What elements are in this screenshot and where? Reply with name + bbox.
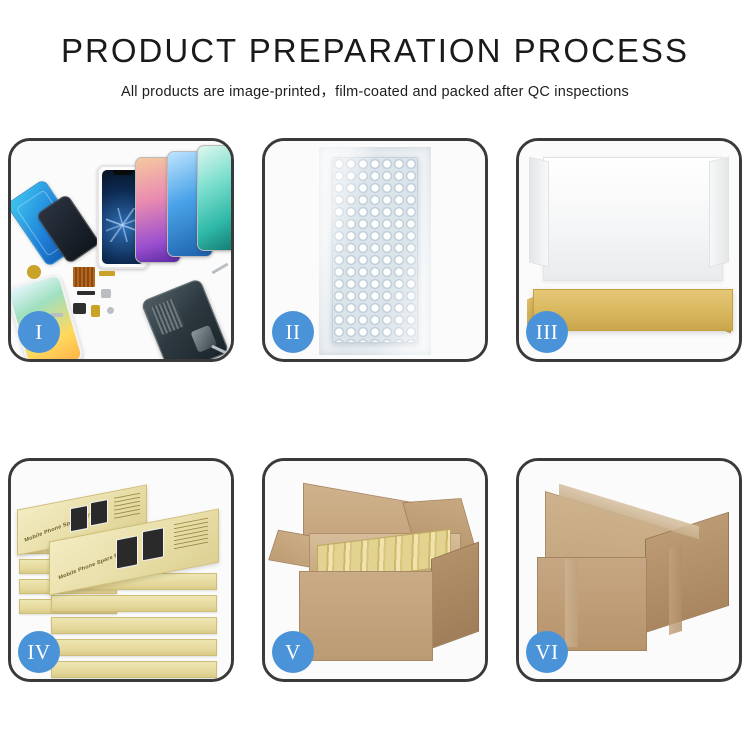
step-panel-6[interactable]: VI [516, 458, 742, 682]
box-screen-image [116, 535, 138, 569]
bubble-wrap-texture [332, 157, 418, 343]
carton-front-panel [299, 571, 433, 661]
box-screen-image [70, 505, 88, 532]
flex-cable-part [99, 271, 115, 276]
carton-side-panel [431, 542, 479, 649]
lid-flap-right [709, 157, 729, 268]
step-badge-1: I [18, 311, 60, 353]
coil-part [27, 265, 41, 279]
box-screen-image [142, 527, 164, 561]
phone-teal-icon [197, 145, 234, 251]
step-panel-2[interactable]: II [262, 138, 488, 362]
logic-board-part [73, 267, 95, 287]
box-screen-image [90, 499, 108, 526]
white-lid [543, 157, 723, 281]
step-panel-5[interactable]: V [262, 458, 488, 682]
packing-tape-front [565, 559, 578, 647]
screwdriver-part [211, 263, 228, 275]
page-header: PRODUCT PREPARATION PROCESS All products… [0, 0, 750, 101]
step-badge-2: II [272, 311, 314, 353]
ribbon-part [77, 291, 95, 295]
box-spec-lines [174, 518, 208, 551]
step-panel-3[interactable]: III [516, 138, 742, 362]
page-subtitle: All products are image-printed，film-coat… [0, 80, 750, 101]
battery-part [91, 305, 100, 317]
phone-screens-group [11, 141, 231, 276]
stack-box-edge [51, 661, 217, 678]
step-badge-6: VI [526, 631, 568, 673]
step-badge-4: IV [18, 631, 60, 673]
screw-part [107, 307, 114, 314]
stack-box-edge [51, 595, 217, 612]
process-steps-grid: I II III [8, 138, 742, 682]
step-badge-5: V [272, 631, 314, 673]
page-title: PRODUCT PREPARATION PROCESS [0, 34, 750, 69]
box-spec-lines [114, 493, 140, 520]
speaker-part [73, 303, 86, 314]
lid-flap-left [529, 157, 549, 268]
step-panel-1[interactable]: I [8, 138, 234, 362]
stack-box-edge [51, 639, 217, 656]
stack-box-edge [51, 617, 217, 634]
packing-tape-side [669, 545, 682, 635]
camera-part [101, 289, 111, 298]
step-panel-4[interactable]: Mobile Phone Spare Parts Mobile Phone Sp… [8, 458, 234, 682]
step-badge-3: III [526, 311, 568, 353]
